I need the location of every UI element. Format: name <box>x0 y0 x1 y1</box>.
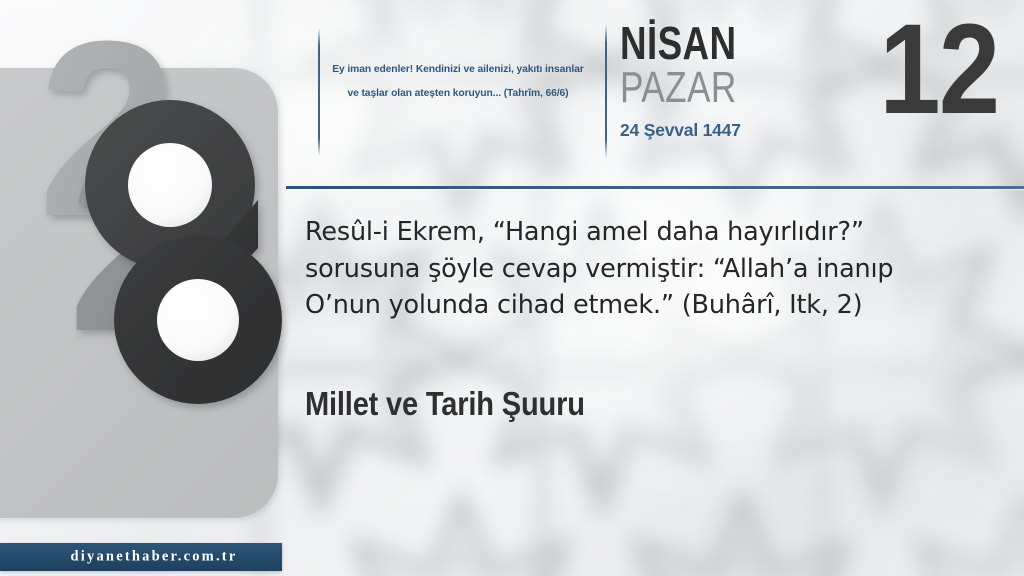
divider-horizontal <box>286 186 1024 189</box>
divider-vertical-right <box>605 24 607 158</box>
hadith-quote: Resûl-i Ekrem, “Hangi amel daha hayırlıd… <box>305 214 945 324</box>
footer-website-text: diyanethaber.com.tr <box>0 549 282 566</box>
day-number: 12 <box>879 6 998 134</box>
date-column: NİSAN PAZAR 24 Şevval 1447 <box>620 22 860 141</box>
calendar-page: 2 2 diyanethaber.com.tr Ey i <box>0 0 1024 576</box>
hijri-date: 24 Şevval 1447 <box>620 120 860 141</box>
theme-heading: Millet ve Tarih Şuuru <box>305 385 585 423</box>
quran-verse-line-1: Ey iman edenler! Kendinizi ve ailenizi, … <box>322 58 594 82</box>
divider-vertical-left <box>318 28 320 156</box>
quran-verse: Ey iman edenler! Kendinizi ve ailenizi, … <box>322 58 594 106</box>
footer-website-bar[interactable]: diyanethaber.com.tr <box>0 543 282 571</box>
month-label: NİSAN <box>620 22 812 64</box>
year-logo-2026: 2 2 <box>20 0 298 450</box>
quran-verse-line-2: ve taşlar olan ateşten koruyun... (Tahrî… <box>322 82 594 106</box>
weekday-label: PAZAR <box>620 66 812 110</box>
